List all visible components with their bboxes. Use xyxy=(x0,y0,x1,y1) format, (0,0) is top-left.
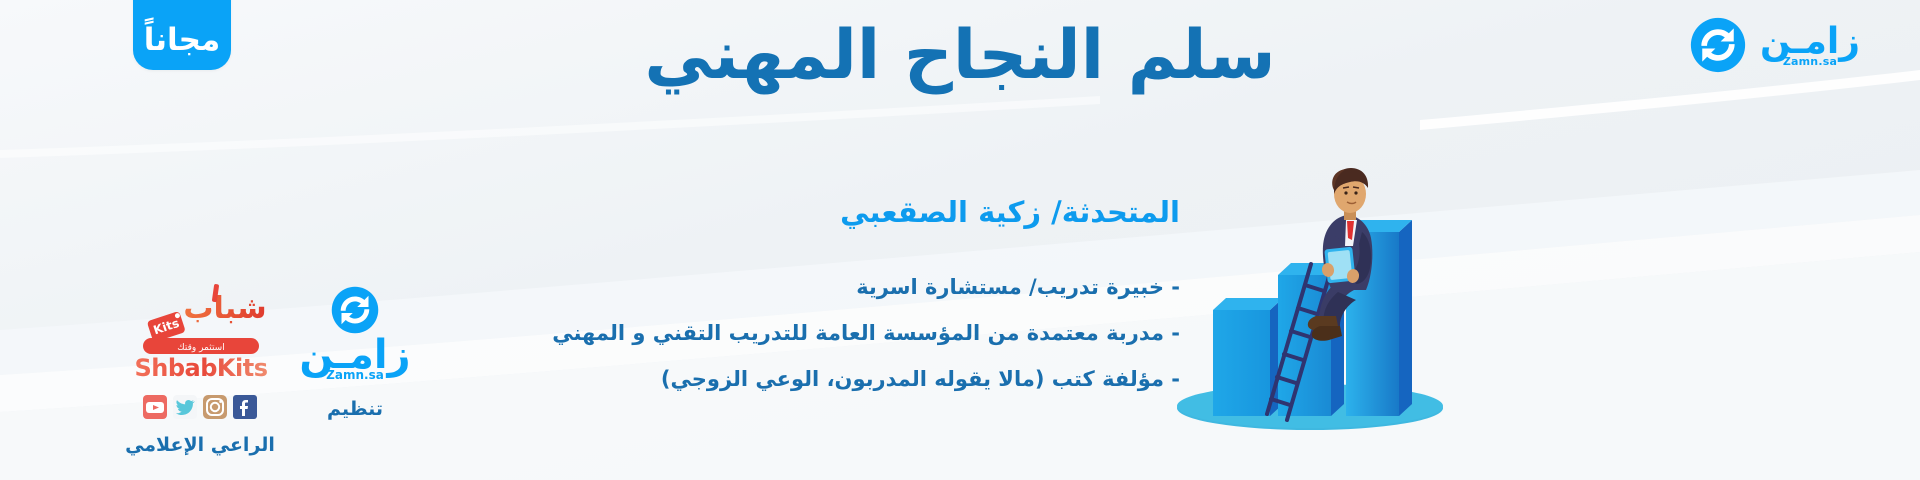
svg-text:استثمر وقتك: استثمر وقتك xyxy=(177,343,224,353)
media-sponsor[interactable]: شباب Kits استثمر وقتك ShbabKits xyxy=(120,282,280,456)
twitter-icon[interactable] xyxy=(172,394,198,420)
webinar-banner: مجاناً زامـن Zamn.sa سلم النجاح المهني ا… xyxy=(0,0,1920,480)
media-sponsor-caption: الراعي الإعلامي xyxy=(120,434,280,456)
youtube-icon[interactable] xyxy=(142,394,168,420)
credential-item: - خبيرة تدريب/ مستشارة اسرية xyxy=(552,275,1180,299)
organizer-caption: تنظيم xyxy=(280,398,430,420)
speaker-name: المتحدثة/ زكية الصقعبي xyxy=(840,195,1180,229)
page-title: سلم النجاح المهني xyxy=(0,20,1920,91)
shbabkits-logo: شباب Kits استثمر وقتك ShbabKits xyxy=(125,282,275,390)
svg-text:ShbabKits: ShbabKits xyxy=(134,354,267,382)
organizer-sponsor[interactable]: زامـن Zamn.sa تنظيم xyxy=(280,286,430,420)
sync-refresh-icon xyxy=(331,286,379,334)
svg-text:شباب: شباب xyxy=(183,291,266,326)
growth-chart-illustration xyxy=(1150,120,1480,440)
speaker-credentials: - خبيرة تدريب/ مستشارة اسرية - مدربة معت… xyxy=(552,275,1180,413)
credential-item: - مدربة معتمدة من المؤسسة العامة للتدريب… xyxy=(552,321,1180,345)
sponsor-cluster: شباب Kits استثمر وقتك ShbabKits xyxy=(95,282,425,472)
social-icons-row[interactable] xyxy=(120,394,280,420)
credential-item: - مؤلفة كتب (مالا يقوله المدربون، الوعي … xyxy=(552,367,1180,391)
instagram-icon[interactable] xyxy=(202,394,228,420)
facebook-icon[interactable] xyxy=(232,394,258,420)
